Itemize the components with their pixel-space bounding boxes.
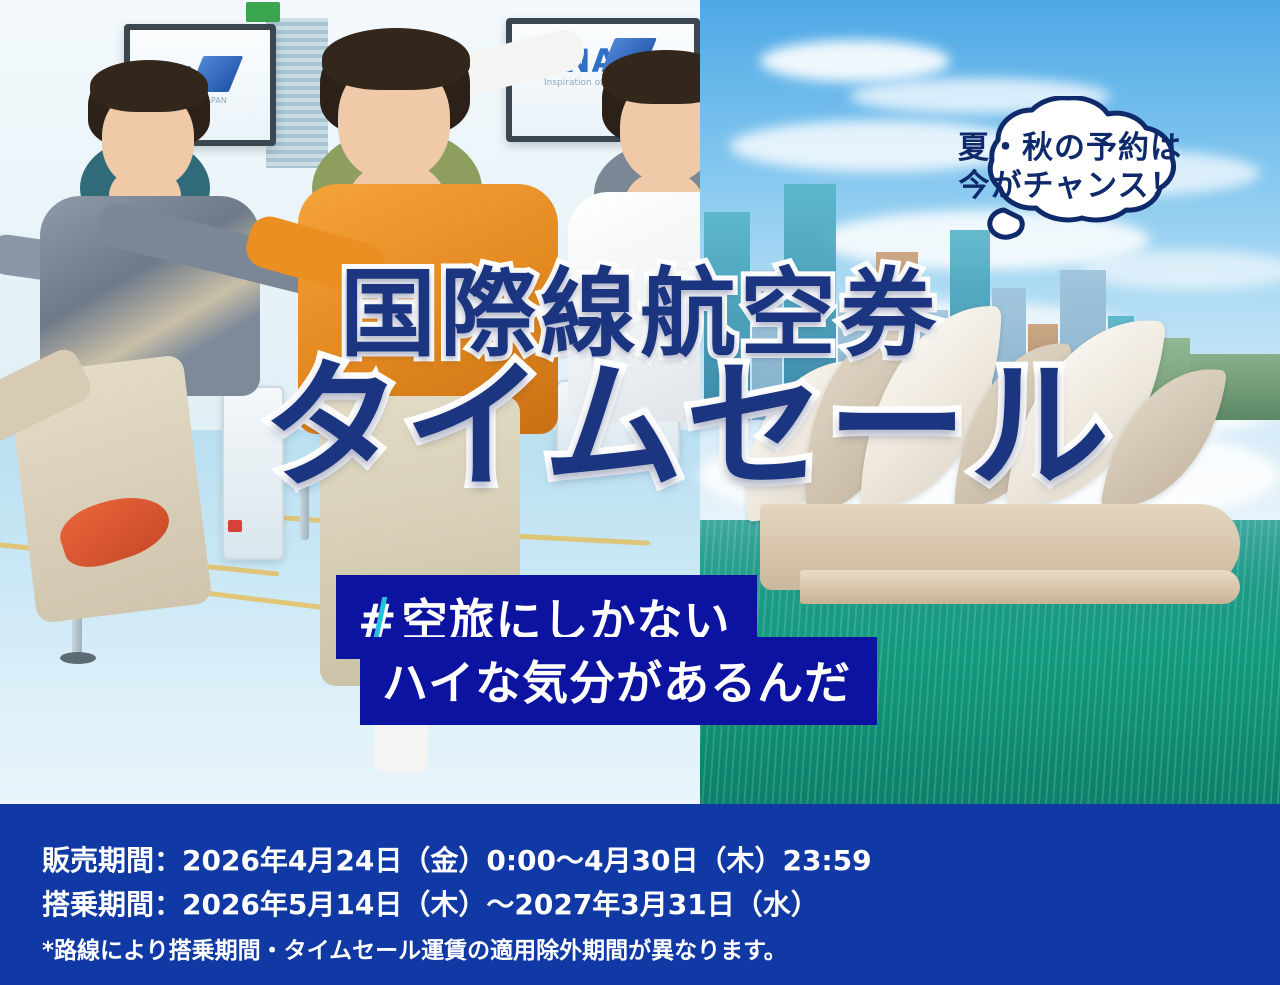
footnote-text: *路線により搭乗期間・タイムセール運賃の適用除外期間が異なります。	[42, 931, 787, 965]
page-subtitle-sale: タイムセール	[262, 358, 1111, 498]
tagline-text-2: ハイな気分があるんだ	[382, 656, 851, 710]
speech-bubble-line1: 夏・秋の予約は	[920, 130, 1220, 168]
sales-period-text: 販売期間：2026年4月24日（金）0:00〜4月30日（木）23:59	[42, 839, 872, 879]
boarding-period-text: 搭乗期間：2026年5月14日（木）〜2027年3月31日（水）	[42, 883, 819, 923]
hero-image: ANA Inspiration of JAPAN ANA Inspiration…	[0, 0, 1280, 804]
cloud	[760, 40, 950, 82]
hair-fringe	[322, 28, 470, 90]
ana-timesale-banner: ANA Inspiration of JAPAN ANA Inspiration…	[0, 0, 1280, 985]
tagline-banner-line2: ハイな気分があるんだ	[360, 637, 877, 725]
speech-bubble-line2: 今がチャンス！	[920, 168, 1220, 206]
hair-fringe	[90, 60, 208, 112]
speech-bubble-text: 夏・秋の予約は 今がチャンス！	[920, 130, 1220, 206]
speech-bubble: 夏・秋の予約は 今がチャンス！	[920, 96, 1220, 252]
opera-podium-lower	[800, 570, 1240, 604]
info-footer: 販売期間：2026年4月24日（金）0:00〜4月30日（木）23:59 搭乗期…	[0, 804, 1280, 985]
exit-sign	[246, 2, 280, 22]
